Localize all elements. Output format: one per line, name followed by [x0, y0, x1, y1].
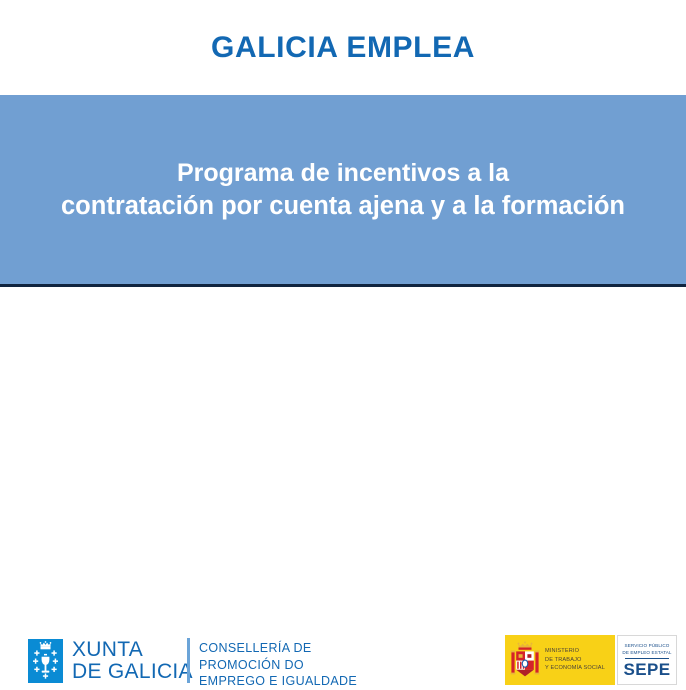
- program-description: Programa de incentivos a la contratación…: [47, 157, 639, 224]
- spain-coat-of-arms-icon: [510, 641, 540, 679]
- ministerio-line-2: DE TRABAJO: [545, 656, 605, 664]
- header-zone: GALICIA EMPLEA: [0, 0, 686, 95]
- conselleria-line-3: EMPREGO E IGUALDADE: [199, 673, 357, 690]
- page-title: GALICIA EMPLEA: [211, 33, 475, 63]
- conselleria-label: CONSELLERÍA DE PROMOCIÓN DO EMPREGO E IG…: [199, 640, 357, 690]
- logo-divider: [187, 638, 190, 683]
- sepe-subtitle-line-1: SERVICIO PÚBLICO: [622, 642, 671, 649]
- xunta-wordmark: XUNTA DE GALICIA: [72, 639, 193, 684]
- spain-escudo-svg: [510, 641, 540, 679]
- footer-logo-strip: XUNTA DE GALICIA CONSELLERÍA DE PROMOCIÓ…: [0, 288, 686, 410]
- program-description-line-1: Programa de incentivos a la: [61, 157, 625, 190]
- program-banner: Programa de incentivos a la contratación…: [0, 95, 686, 285]
- sepe-subtitle-line-2: DE EMPLEO ESTATAL: [622, 649, 671, 656]
- galicia-emblem-svg: [28, 639, 63, 683]
- ministerio-de-trabajo-logo: MINISTERIO DE TRABAJO Y ECONOMÍA SOCIAL: [505, 635, 615, 685]
- galicia-coat-of-arms-icon: [28, 639, 63, 683]
- xunta-wordmark-line-1: XUNTA: [72, 639, 193, 661]
- banner-bottom-rule: [0, 284, 686, 287]
- ministerio-label: MINISTERIO DE TRABAJO Y ECONOMÍA SOCIAL: [545, 647, 605, 672]
- ministerio-line-1: MINISTERIO: [545, 647, 605, 655]
- ministerio-line-3: Y ECONOMÍA SOCIAL: [545, 664, 605, 672]
- sepe-divider-rule: [625, 658, 669, 659]
- program-description-line-2: contratación por cuenta ajena y a la for…: [61, 190, 625, 224]
- sepe-logo: SERVICIO PÚBLICO DE EMPLEO ESTATAL SEPE: [617, 635, 677, 685]
- xunta-de-galicia-logo: XUNTA DE GALICIA: [28, 638, 193, 684]
- conselleria-line-2: PROMOCIÓN DO: [199, 657, 357, 674]
- xunta-wordmark-line-2: DE GALICIA: [72, 661, 193, 683]
- conselleria-line-1: CONSELLERÍA DE: [199, 640, 357, 657]
- sepe-subtitle: SERVICIO PÚBLICO DE EMPLEO ESTATAL: [622, 642, 671, 656]
- sepe-acronym: SEPE: [624, 661, 671, 678]
